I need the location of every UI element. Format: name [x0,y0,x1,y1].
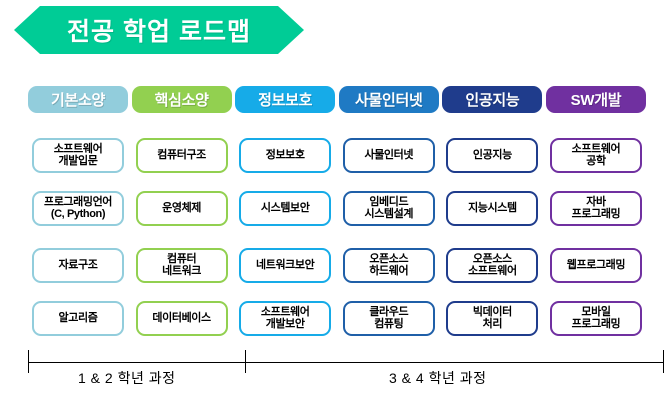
course-label: 웹프로그래밍 [566,260,626,272]
course-box[interactable]: 자바 프로그래밍 [550,191,642,226]
course-box[interactable]: 임베디드 시스템설계 [343,191,435,226]
course-label: 운영체제 [161,203,202,215]
course-label: 시스템보안 [260,203,311,215]
axis-tick-start [28,350,29,373]
course-box[interactable]: 컴퓨터구조 [136,138,228,173]
column-header-4[interactable]: 사물인터넷 [339,86,439,113]
course-box[interactable]: 정보보호 [239,138,331,173]
axis-tick-end [663,350,664,373]
column-header-label: 핵심소양 [155,89,209,110]
course-box[interactable]: 알고리즘 [32,301,124,336]
course-box[interactable]: 소프트웨어 개발입문 [32,138,124,173]
column-header-2[interactable]: 핵심소양 [132,86,232,113]
course-label: 소프트웨어 개발입문 [53,144,104,168]
course-list: 사물인터넷임베디드 시스템설계오픈소스 하드웨어클라우드 컴퓨팅 [339,138,439,336]
course-list: 소프트웨어 공학자바 프로그래밍웹프로그래밍모바일 프로그래밍 [546,138,646,336]
roadmap-column: 정보보호정보보호시스템보안네트워크보안소프트웨어 개발보안 [235,86,335,336]
course-box[interactable]: 모바일 프로그래밍 [550,301,642,336]
course-box[interactable]: 네트워크보안 [239,248,331,283]
course-list: 인공지능지능시스템오픈소스 소프트웨어빅데이터 처리 [442,138,542,336]
course-list: 정보보호시스템보안네트워크보안소프트웨어 개발보안 [235,138,335,336]
course-label: 모바일 프로그래밍 [571,307,622,331]
roadmap-column: 사물인터넷사물인터넷임베디드 시스템설계오픈소스 하드웨어클라우드 컴퓨팅 [339,86,439,336]
course-box[interactable]: 소프트웨어 공학 [550,138,642,173]
course-label: 오픈소스 소프트웨어 [467,254,518,278]
page-title: 전공 학업 로드맵 [67,12,251,48]
course-label: 클라우드 컴퓨팅 [368,307,409,331]
course-label: 데이터베이스 [151,313,211,325]
axis-label-year-3-4: 3 & 4 학년 과정 [389,368,487,388]
column-header-6[interactable]: SW개발 [546,86,646,113]
course-label: 인공지능 [472,150,513,162]
column-header-label: 사물인터넷 [355,89,423,110]
course-label: 오픈소스 하드웨어 [368,254,409,278]
course-box[interactable]: 지능시스템 [446,191,538,226]
course-label: 소프트웨어 개발보안 [260,307,311,331]
column-header-label: 기본소양 [51,89,105,110]
course-label: 알고리즘 [58,313,99,325]
course-box[interactable]: 빅데이터 처리 [446,301,538,336]
course-box[interactable]: 자료구조 [32,248,124,283]
course-label: 지능시스템 [467,203,518,215]
course-label: 프로그래밍언어 (C, Python) [43,197,113,221]
roadmap-column: 인공지능인공지능지능시스템오픈소스 소프트웨어빅데이터 처리 [442,86,542,336]
course-box[interactable]: 데이터베이스 [136,301,228,336]
course-box[interactable]: 클라우드 컴퓨팅 [343,301,435,336]
year-axis [28,350,664,364]
page-title-banner: 전공 학업 로드맵 [14,6,304,54]
course-label: 자바 프로그래밍 [571,197,622,221]
roadmap-grid: 기본소양소프트웨어 개발입문프로그래밍언어 (C, Python)자료구조알고리… [28,86,646,336]
course-box[interactable]: 시스템보안 [239,191,331,226]
course-box[interactable]: 사물인터넷 [343,138,435,173]
column-header-label: 인공지능 [465,89,519,110]
course-label: 정보보호 [265,150,306,162]
column-header-label: SW개발 [571,89,622,110]
course-box[interactable]: 오픈소스 하드웨어 [343,248,435,283]
course-list: 컴퓨터구조운영체제컴퓨터 네트워크데이터베이스 [132,138,232,336]
course-label: 네트워크보안 [255,260,315,272]
roadmap-column: 기본소양소프트웨어 개발입문프로그래밍언어 (C, Python)자료구조알고리… [28,86,128,336]
course-list: 소프트웨어 개발입문프로그래밍언어 (C, Python)자료구조알고리즘 [28,138,128,336]
course-box[interactable]: 운영체제 [136,191,228,226]
course-label: 컴퓨터 네트워크 [161,254,202,278]
axis-tick-middle [245,350,246,373]
course-label: 빅데이터 처리 [472,307,513,331]
axis-label-year-1-2: 1 & 2 학년 과정 [78,368,176,388]
course-label: 자료구조 [58,260,99,272]
roadmap-column: SW개발소프트웨어 공학자바 프로그래밍웹프로그래밍모바일 프로그래밍 [546,86,646,336]
course-label: 임베디드 시스템설계 [363,197,414,221]
course-box[interactable]: 오픈소스 소프트웨어 [446,248,538,283]
course-box[interactable]: 웹프로그래밍 [550,248,642,283]
axis-line [28,362,664,363]
course-label: 소프트웨어 공학 [571,144,622,168]
column-header-1[interactable]: 기본소양 [28,86,128,113]
course-box[interactable]: 인공지능 [446,138,538,173]
course-label: 컴퓨터구조 [156,150,207,162]
column-header-3[interactable]: 정보보호 [235,86,335,113]
course-box[interactable]: 소프트웨어 개발보안 [239,301,331,336]
column-header-5[interactable]: 인공지능 [442,86,542,113]
course-label: 사물인터넷 [363,150,414,162]
course-box[interactable]: 컴퓨터 네트워크 [136,248,228,283]
roadmap-column: 핵심소양컴퓨터구조운영체제컴퓨터 네트워크데이터베이스 [132,86,232,336]
course-box[interactable]: 프로그래밍언어 (C, Python) [32,191,124,226]
column-header-label: 정보보호 [258,89,312,110]
